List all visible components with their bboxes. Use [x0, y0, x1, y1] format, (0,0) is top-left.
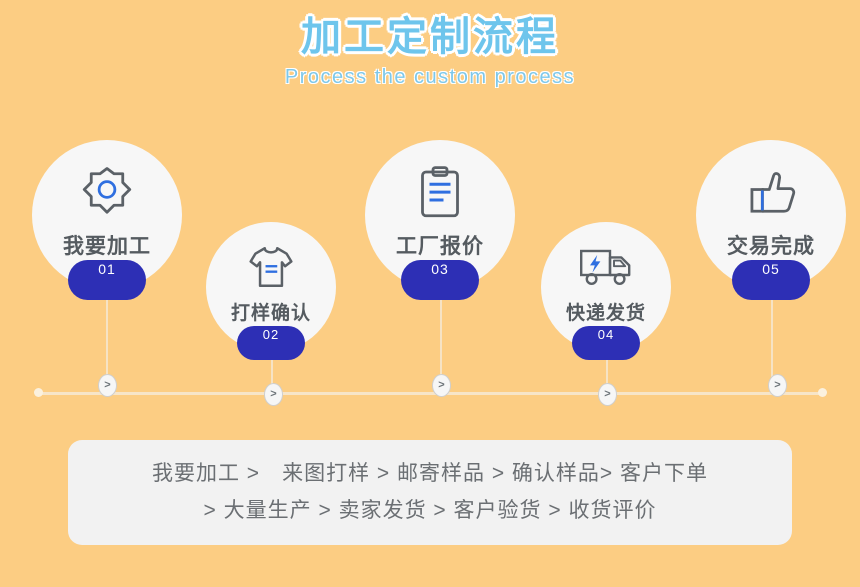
clipboard-quote-icon — [414, 162, 466, 224]
timeline-marker-5[interactable]: > — [768, 374, 787, 397]
summary-line-2: > 大量生产 > 卖家发货 > 客户验货 > 收货评价 — [152, 493, 708, 530]
summary-line-1: 我要加工 > 来图打样 > 邮寄样品 > 确认样品> 客户下单 — [152, 456, 708, 493]
process-summary-panel: 我要加工 > 来图打样 > 邮寄样品 > 确认样品> 客户下单 > 大量生产 >… — [68, 440, 792, 545]
timeline-start-dot — [34, 388, 43, 397]
tshirt-icon — [246, 240, 296, 294]
thumbs-up-icon — [745, 162, 797, 224]
connector-stem-5 — [771, 285, 773, 385]
step-number: 03 — [431, 261, 449, 277]
step-number: 05 — [762, 261, 780, 277]
delivery-truck-icon — [578, 240, 634, 294]
step-item-01[interactable]: 我要加工 01 — [32, 140, 182, 290]
step-number: 01 — [98, 261, 116, 277]
step-number: 04 — [598, 327, 614, 342]
timeline-marker-4[interactable]: > — [598, 383, 617, 406]
step-number-badge: 05 — [732, 260, 810, 300]
step-label: 打样确认 — [231, 298, 311, 325]
step-item-02[interactable]: 打样确认 02 — [206, 222, 336, 352]
timeline-end-dot — [818, 388, 827, 397]
step-number-badge: 02 — [237, 326, 305, 360]
step-number: 02 — [263, 327, 279, 342]
step-number-badge: 01 — [68, 260, 146, 300]
step-label: 我要加工 — [63, 230, 151, 260]
step-label: 交易完成 — [727, 230, 815, 260]
step-item-03[interactable]: 工厂报价 03 — [365, 140, 515, 290]
timeline-marker-2[interactable]: > — [264, 383, 283, 406]
step-number-badge: 04 — [572, 326, 640, 360]
step-label: 快递发货 — [566, 298, 646, 325]
timeline-marker-3[interactable]: > — [432, 374, 451, 397]
timeline-marker-1[interactable]: > — [98, 374, 117, 397]
step-item-04[interactable]: 快递发货 04 — [541, 222, 671, 352]
step-label: 工厂报价 — [396, 230, 484, 260]
badge-gear-icon — [79, 162, 135, 224]
step-number-badge: 03 — [401, 260, 479, 300]
timeline-rail — [38, 392, 822, 395]
step-item-05[interactable]: 交易完成 05 — [696, 140, 846, 290]
connector-stem-1 — [106, 285, 108, 385]
summary-text: 我要加工 > 来图打样 > 邮寄样品 > 确认样品> 客户下单 > 大量生产 >… — [128, 456, 732, 530]
connector-stem-3 — [440, 285, 442, 385]
